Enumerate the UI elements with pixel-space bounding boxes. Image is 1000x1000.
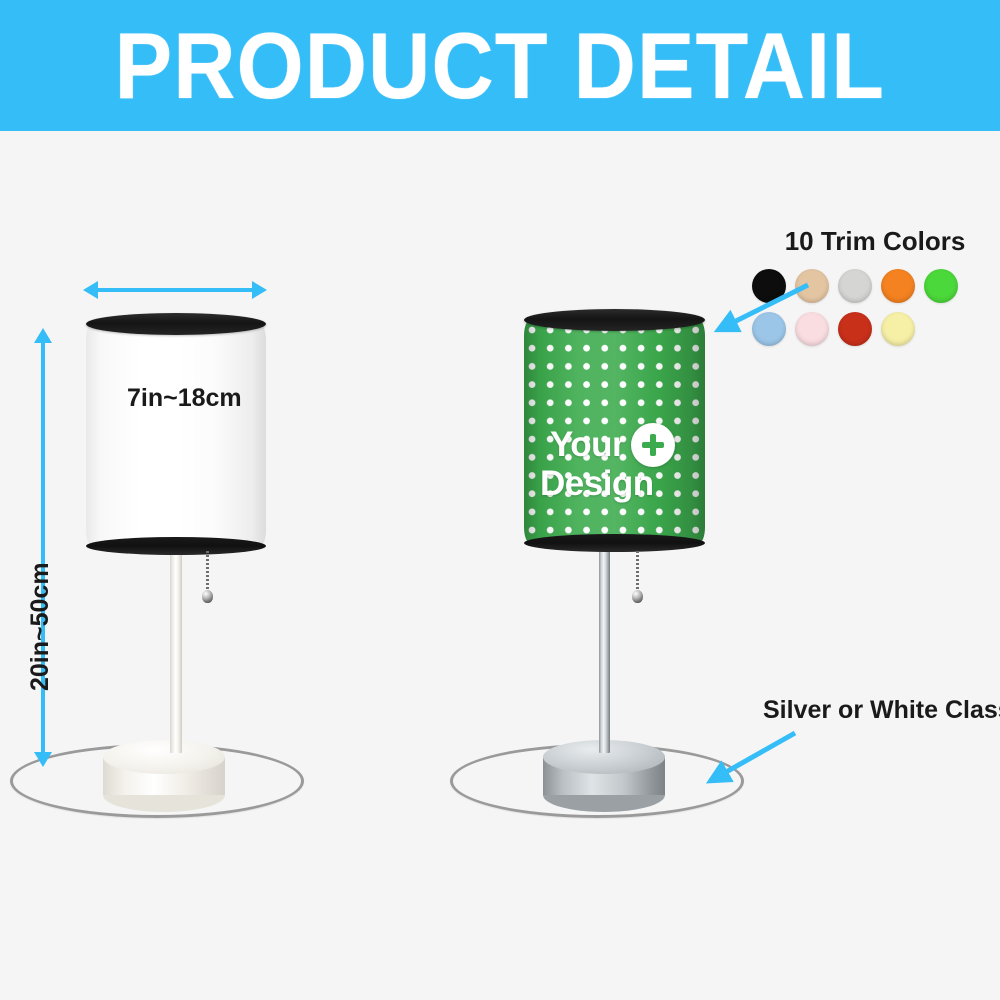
base-finish-pointer-arrow (690, 723, 820, 813)
green-lamp-pull-chain-ball[interactable] (632, 590, 643, 603)
white-shade-gloss (140, 324, 169, 546)
header-banner: PRODUCT DETAIL (0, 0, 1000, 131)
design-text-line-1: Your (550, 428, 625, 462)
white-shade-body (86, 324, 266, 546)
trim-swatch-pale-yellow[interactable] (881, 312, 915, 346)
white-lamp-base-top (103, 740, 225, 774)
white-lamp-pole (170, 553, 182, 753)
green-lamp-shade: Your Design (524, 309, 705, 552)
page-title: PRODUCT DETAIL (115, 19, 885, 113)
white-lamp-base (103, 740, 225, 816)
green-shade-body: Your Design (524, 320, 705, 543)
white-lamp-pull-chain-ball[interactable] (202, 590, 213, 603)
width-arrow-head-right (252, 281, 267, 299)
height-arrow-line (41, 341, 45, 753)
white-lamp-shade (86, 313, 266, 555)
trim-swatch-green[interactable] (924, 269, 958, 303)
white-shade-trim-bottom (86, 537, 266, 555)
green-lamp-pull-chain[interactable] (636, 551, 639, 593)
width-dimension-label: 7in~18cm (127, 384, 242, 413)
width-arrow-line (96, 288, 254, 292)
trim-swatch-silver-gray[interactable] (838, 269, 872, 303)
height-arrow-head-bottom (34, 752, 52, 767)
trim-colors-title: 10 Trim Colors (752, 226, 998, 257)
shade-design-artwork: Your Design (534, 423, 695, 501)
design-text-line-2: Design (534, 467, 695, 501)
trim-swatch-orange[interactable] (881, 269, 915, 303)
green-lamp-pole (599, 551, 610, 753)
trim-color-pointer-arrow (690, 273, 830, 353)
design-line-1-row: Your (534, 423, 695, 467)
white-shade-surface (86, 324, 266, 546)
base-finish-label: Silver or White Classy (763, 696, 1000, 725)
product-detail-stage: 7in~18cm 20in~50cm (0, 131, 1000, 1000)
white-shade-trim-top (86, 313, 266, 335)
green-shade-trim-top (524, 309, 705, 331)
trim-swatch-dark-red[interactable] (838, 312, 872, 346)
plus-icon (631, 423, 675, 467)
green-shade-trim-bottom (524, 534, 705, 552)
height-dimension-label: 20in~50cm (26, 562, 55, 691)
white-lamp-pull-chain[interactable] (206, 551, 209, 593)
